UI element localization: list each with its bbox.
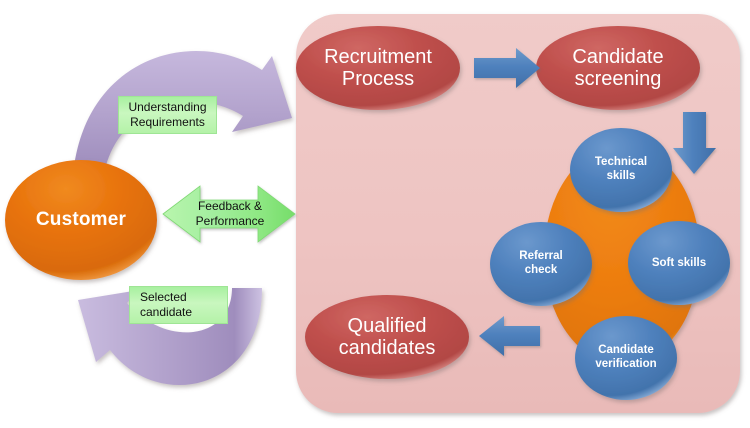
soft-skills-node xyxy=(628,221,730,305)
understanding-requirements-label: Understanding Requirements xyxy=(118,96,217,134)
diagram-shapes xyxy=(0,0,750,428)
qualified-candidates-node xyxy=(305,295,469,379)
feedback-performance-line2: Performance xyxy=(196,214,265,229)
selected-candidate-line2: candidate xyxy=(140,305,192,320)
diagram-canvas: Customer Recruitment Process Candidate s… xyxy=(0,0,750,428)
feedback-performance-label: Feedback & Performance xyxy=(185,196,275,232)
candidate-verification-node xyxy=(575,316,677,400)
selected-candidate-label: Selected candidate xyxy=(129,286,228,324)
understanding-requirements-line2: Requirements xyxy=(130,115,205,130)
recruitment-process-node xyxy=(296,26,460,110)
candidate-screening-node xyxy=(536,26,700,110)
selected-candidate-line1: Selected xyxy=(140,290,187,305)
feedback-performance-line1: Feedback & xyxy=(198,199,262,214)
understanding-requirements-line1: Understanding xyxy=(128,100,206,115)
customer-node xyxy=(5,160,157,280)
referral-check-node xyxy=(490,222,592,306)
technical-skills-node xyxy=(570,128,672,212)
